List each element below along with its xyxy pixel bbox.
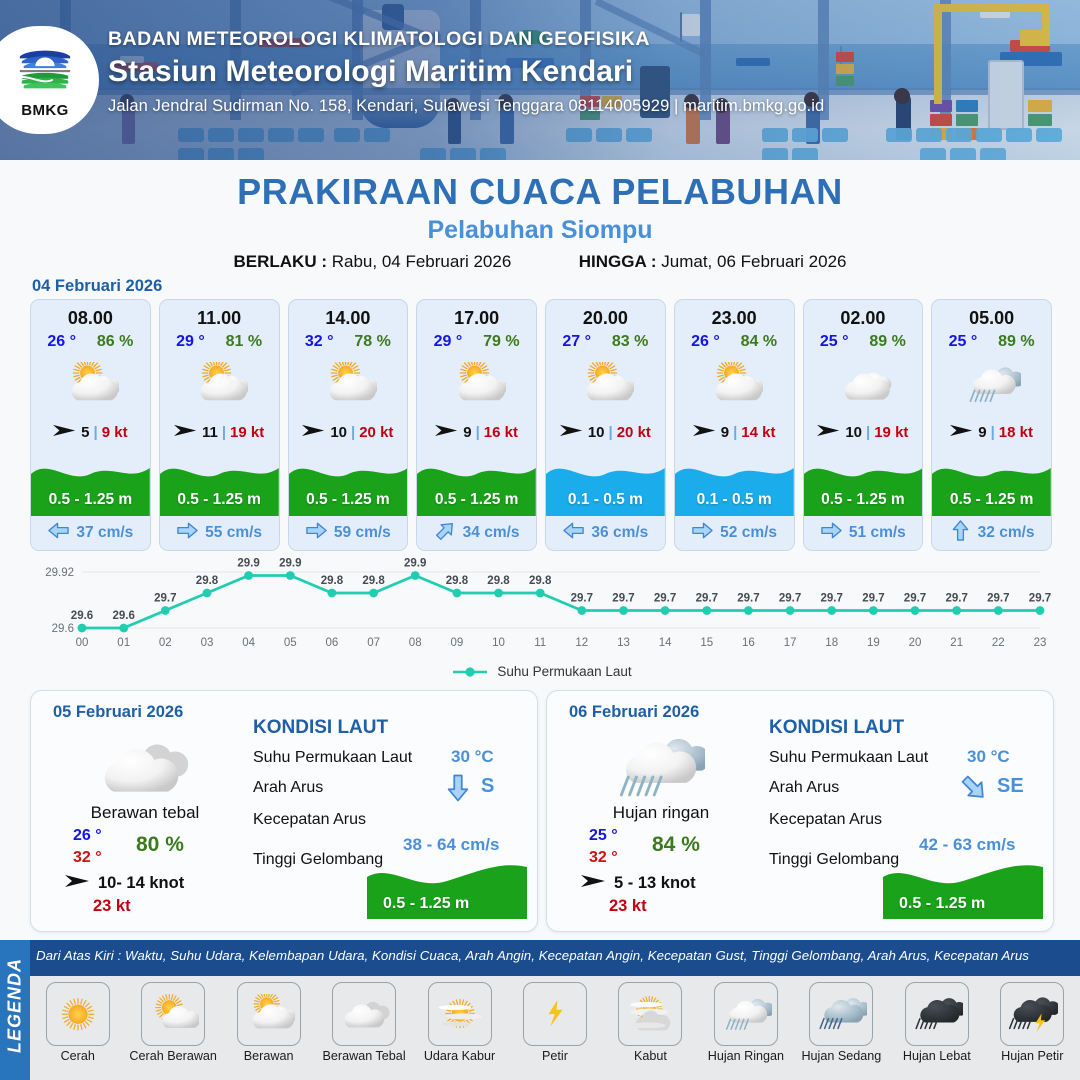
gust-speed: 9 kt xyxy=(102,424,128,441)
humidity: 79 % xyxy=(483,333,519,351)
daily-date: 05 Februari 2026 xyxy=(53,703,183,722)
wind-arrow-icon xyxy=(65,873,91,889)
daily-wind-speed: 10- 14 knot xyxy=(98,874,184,893)
svg-text:29.9: 29.9 xyxy=(279,558,301,570)
air-temperature: 32 ° xyxy=(305,333,334,351)
partly-cloudy-icon xyxy=(319,362,377,407)
arrow-left-icon xyxy=(47,519,70,547)
hingga-value: Jumat, 06 Februari 2026 xyxy=(661,252,846,271)
current-direction-value: SE xyxy=(997,775,1024,798)
svg-text:29.8: 29.8 xyxy=(529,575,552,587)
bmkg-logo-text: BMKG xyxy=(21,102,68,119)
legend-item: Petir xyxy=(507,982,602,1063)
daily-humidity: 84 % xyxy=(652,833,700,857)
svg-text:29.7: 29.7 xyxy=(1029,593,1051,605)
wind-arrow-icon xyxy=(693,423,717,438)
wind-arrow-icon xyxy=(65,873,91,894)
wave-height: 0.5 - 1.25 m xyxy=(804,454,923,516)
arrow-right-icon xyxy=(820,519,843,547)
forecast-card[interactable]: 20.00 27 ° 83 % 10 | 20 kt xyxy=(545,299,666,551)
arrow-right-icon xyxy=(305,519,328,547)
weather-condition-icon xyxy=(675,355,794,415)
light-rain-icon xyxy=(720,994,772,1035)
svg-text:29.8: 29.8 xyxy=(362,575,385,587)
wind-separator: | xyxy=(222,424,226,441)
wind-separator: | xyxy=(476,424,480,441)
daily-gust: 23 kt xyxy=(609,897,647,916)
wind-direction-arrow-icon xyxy=(174,423,198,442)
wind-info: 5 | 9 kt xyxy=(31,423,150,442)
bmkg-logo-mark xyxy=(14,41,76,101)
sunny-cloudy-icon xyxy=(141,982,205,1046)
arrow-up-icon xyxy=(949,519,972,542)
moderate-rain-icon xyxy=(815,994,867,1035)
station-name: Stasiun Meteorologi Maritim Kendari xyxy=(108,55,968,89)
wind-direction-arrow-icon xyxy=(817,423,841,442)
legend-item: Hujan Sedang xyxy=(794,982,889,1063)
light-rain-icon xyxy=(963,362,1021,407)
forecast-time: 20.00 xyxy=(546,308,665,329)
wind-direction-arrow-icon xyxy=(693,423,717,442)
wind-speed: 9 xyxy=(463,424,471,441)
legend-item: Hujan Ringan xyxy=(698,982,793,1063)
svg-text:29.8: 29.8 xyxy=(487,575,510,587)
air-temperature: 25 ° xyxy=(820,333,849,351)
air-temperature: 25 ° xyxy=(949,333,978,351)
svg-text:29.7: 29.7 xyxy=(696,593,718,605)
svg-text:16: 16 xyxy=(742,637,755,649)
arrow-down-icon xyxy=(443,773,473,808)
legend-tab-label: LEGENDA xyxy=(5,950,26,1062)
forecast-card-list: 08.00 26 ° 86 % 5 | 9 kt xyxy=(30,299,1052,549)
legend-item-label: Berawan xyxy=(244,1049,294,1063)
wind-arrow-icon xyxy=(53,423,77,438)
berlaku-label: BERLAKU : xyxy=(234,252,328,271)
legend-item-list: Cerah Cerah Berawan xyxy=(30,976,1080,1080)
header-text-block: BADAN METEOROLOGI KLIMATOLOGI DAN GEOFIS… xyxy=(108,28,968,116)
wind-direction-arrow-icon xyxy=(302,423,326,442)
legend-item-label: Hujan Petir xyxy=(1001,1049,1063,1063)
daily-temp-min: 26 ° xyxy=(73,827,102,845)
arrow-right-icon xyxy=(305,519,328,542)
wind-separator: | xyxy=(351,424,355,441)
thunderstorm-rain-icon xyxy=(1006,994,1058,1035)
svg-text:14: 14 xyxy=(659,637,672,649)
current-info: 55 cm/s xyxy=(160,516,279,550)
arrow-upright-icon xyxy=(434,519,457,547)
gust-speed: 18 kt xyxy=(999,424,1033,441)
wind-separator: | xyxy=(94,424,98,441)
arrow-right-icon xyxy=(691,519,714,542)
current-speed: 34 cm/s xyxy=(463,524,520,542)
sunny-icon xyxy=(46,982,110,1046)
light-rain-icon xyxy=(714,982,778,1046)
legend-item-label: Cerah xyxy=(61,1049,95,1063)
wind-direction-arrow-icon xyxy=(950,423,974,442)
daily-temp-max: 32 ° xyxy=(73,849,102,867)
current-speed: 55 cm/s xyxy=(205,524,262,542)
daily-date: 06 Februari 2026 xyxy=(569,703,699,722)
daily-gust: 23 kt xyxy=(93,897,131,916)
sea-conditions-heading: KONDISI LAUT xyxy=(769,717,904,739)
wind-arrow-icon xyxy=(950,423,974,438)
legend-note: Dari Atas Kiri : Waktu, Suhu Udara, Kele… xyxy=(36,948,1076,963)
sst-label: Suhu Permukaan Laut xyxy=(253,749,412,767)
partly-cloudy-icon xyxy=(190,362,248,407)
arrow-right-icon xyxy=(176,519,199,547)
forecast-time: 23.00 xyxy=(675,308,794,329)
humidity: 89 % xyxy=(869,333,905,351)
svg-text:29.7: 29.7 xyxy=(821,593,843,605)
forecast-card[interactable]: 11.00 29 ° 81 % 11 | 19 kt xyxy=(159,299,280,551)
forecast-card[interactable]: 05.00 25 ° 89 % 9 | 18 kt xyxy=(931,299,1052,551)
legend-item-label: Petir xyxy=(542,1049,568,1063)
svg-text:10: 10 xyxy=(492,637,505,649)
humidity: 86 % xyxy=(97,333,133,351)
arrow-right-icon xyxy=(820,519,843,542)
current-speed: 59 cm/s xyxy=(334,524,391,542)
svg-text:19: 19 xyxy=(867,637,880,649)
svg-text:20: 20 xyxy=(909,637,922,649)
svg-text:22: 22 xyxy=(992,637,1005,649)
current-direction-label: Arah Arus xyxy=(253,779,323,797)
forecast-time: 14.00 xyxy=(289,308,408,329)
forecast-time: 05.00 xyxy=(932,308,1051,329)
legend-item-label: Hujan Lebat xyxy=(903,1049,971,1063)
daily-humidity: 80 % xyxy=(136,833,184,857)
sst-chart-svg: 29.9229.629.60029.60129.70229.80329.9042… xyxy=(30,556,1052,660)
svg-text:17: 17 xyxy=(784,637,797,649)
wind-arrow-icon xyxy=(174,423,198,438)
wind-direction-arrow-icon xyxy=(560,423,584,442)
overcast-icon xyxy=(332,982,396,1046)
forecast-card[interactable]: 08.00 26 ° 86 % 5 | 9 kt xyxy=(30,299,151,551)
svg-text:21: 21 xyxy=(950,637,963,649)
sst-value: 30 °C xyxy=(967,747,1010,767)
cloudy-icon xyxy=(834,362,892,407)
wind-info: 9 | 18 kt xyxy=(932,423,1051,442)
gust-speed: 20 kt xyxy=(617,424,651,441)
gust-speed: 20 kt xyxy=(359,424,393,441)
svg-text:03: 03 xyxy=(201,637,214,649)
humidity: 78 % xyxy=(354,333,390,351)
wind-separator: | xyxy=(733,424,737,441)
legend-item: Cerah xyxy=(30,982,125,1063)
page-subtitle: Pelabuhan Siompu xyxy=(0,216,1080,245)
gust-speed: 19 kt xyxy=(874,424,908,441)
legend-item-label: Berawan Tebal xyxy=(323,1049,406,1063)
wave-height: 0.5 - 1.25 m xyxy=(160,454,279,516)
heavy-rain-icon xyxy=(911,994,963,1035)
wind-separator: | xyxy=(991,424,995,441)
wind-speed: 10 xyxy=(330,424,347,441)
arrow-upright-icon xyxy=(434,519,457,542)
light-rain-icon xyxy=(609,730,705,805)
humidity: 84 % xyxy=(741,333,777,351)
wave-height: 0.5 - 1.25 m xyxy=(31,454,150,516)
legend-item: Berawan Tebal xyxy=(316,982,411,1063)
wave-height-label: Tinggi Gelombang xyxy=(769,851,899,869)
svg-text:02: 02 xyxy=(159,637,172,649)
wave-height: 0.5 - 1.25 m xyxy=(417,454,536,516)
daily-weather-icon xyxy=(602,733,712,801)
chart-legend-marker-icon xyxy=(450,666,490,678)
wind-speed: 9 xyxy=(721,424,729,441)
gust-speed: 16 kt xyxy=(484,424,518,441)
daily-temp-min: 25 ° xyxy=(589,827,618,845)
heavy-rain-icon xyxy=(905,982,969,1046)
daily-wind: 10- 14 knot xyxy=(65,873,184,894)
wind-direction-arrow-icon xyxy=(53,423,77,442)
partly-cloudy-icon xyxy=(576,362,634,407)
svg-text:06: 06 xyxy=(326,637,339,649)
daily-forecast-panel-2: 06 Februari 2026 Hujan ringan 25 ° 32 ° … xyxy=(546,690,1054,932)
svg-text:01: 01 xyxy=(117,637,130,649)
arrow-left-icon xyxy=(47,519,70,542)
current-speed-value: 42 - 63 cm/s xyxy=(919,835,1015,855)
legend-item-label: Hujan Sedang xyxy=(801,1049,881,1063)
humidity: 89 % xyxy=(998,333,1034,351)
forecast-time: 11.00 xyxy=(160,308,279,329)
wind-arrow-icon xyxy=(817,423,841,438)
partly-cloudy-icon xyxy=(243,994,295,1035)
humidity: 83 % xyxy=(612,333,648,351)
daily-wave-value: 0.5 - 1.25 m xyxy=(899,895,985,913)
air-temperature: 27 ° xyxy=(562,333,591,351)
forecast-card[interactable]: 23.00 26 ° 84 % 9 | 14 kt xyxy=(674,299,795,551)
air-temperature: 26 ° xyxy=(691,333,720,351)
legend-item-label: Udara Kabur xyxy=(424,1049,495,1063)
weather-condition-icon xyxy=(804,355,923,415)
gust-speed: 14 kt xyxy=(741,424,775,441)
forecast-card[interactable]: 02.00 25 ° 89 % 10 | 19 kt xyxy=(803,299,924,551)
humidity: 81 % xyxy=(226,333,262,351)
svg-text:29.7: 29.7 xyxy=(946,593,968,605)
svg-text:12: 12 xyxy=(575,637,588,649)
wave-height: 0.1 - 0.5 m xyxy=(546,454,665,516)
legend-item-label: Hujan Ringan xyxy=(708,1049,784,1063)
wind-arrow-icon xyxy=(560,423,584,438)
svg-text:29.8: 29.8 xyxy=(321,575,344,587)
wind-info: 9 | 14 kt xyxy=(675,423,794,442)
wind-info: 9 | 16 kt xyxy=(417,423,536,442)
lightning-icon xyxy=(523,982,587,1046)
svg-text:29.7: 29.7 xyxy=(737,593,759,605)
svg-text:05: 05 xyxy=(284,637,297,649)
legend-item: Kabut xyxy=(603,982,698,1063)
forecast-time: 17.00 xyxy=(417,308,536,329)
wind-arrow-icon xyxy=(581,873,607,889)
svg-text:29.6: 29.6 xyxy=(71,610,93,622)
overcast-icon xyxy=(93,730,189,805)
legend-item: Udara Kabur xyxy=(412,982,507,1063)
svg-text:04: 04 xyxy=(242,637,255,649)
forecast-card[interactable]: 14.00 32 ° 78 % 10 | 20 kt xyxy=(288,299,409,551)
daily-condition: Hujan ringan xyxy=(561,803,761,823)
legend-item-label: Cerah Berawan xyxy=(129,1049,217,1063)
arrow-downright-icon xyxy=(959,773,989,803)
current-info: 51 cm/s xyxy=(804,516,923,550)
sea-conditions-heading: KONDISI LAUT xyxy=(253,717,388,739)
wind-info: 10 | 19 kt xyxy=(804,423,923,442)
overcast-icon xyxy=(338,994,390,1035)
svg-text:29.7: 29.7 xyxy=(862,593,884,605)
arrow-downright-icon xyxy=(959,773,989,808)
wind-arrow-icon xyxy=(435,423,459,438)
wind-arrow-icon xyxy=(302,423,326,438)
arrow-right-icon xyxy=(691,519,714,547)
current-info: 52 cm/s xyxy=(675,516,794,550)
forecast-time: 08.00 xyxy=(31,308,150,329)
svg-text:15: 15 xyxy=(700,637,713,649)
air-temperature: 29 ° xyxy=(434,333,463,351)
arrow-up-icon xyxy=(949,519,972,547)
weather-condition-icon xyxy=(417,355,536,415)
fog-icon xyxy=(618,982,682,1046)
svg-text:13: 13 xyxy=(617,637,630,649)
weather-condition-icon xyxy=(31,355,150,415)
wave-height: 0.5 - 1.25 m xyxy=(932,454,1051,516)
current-speed: 52 cm/s xyxy=(720,524,777,542)
svg-text:29.9: 29.9 xyxy=(404,558,426,570)
arrow-left-icon xyxy=(562,519,585,542)
current-speed: 51 cm/s xyxy=(849,524,906,542)
air-temperature: 29 ° xyxy=(176,333,205,351)
arrow-left-icon xyxy=(562,519,585,547)
wave-height-label: Tinggi Gelombang xyxy=(253,851,383,869)
current-direction-label: Arah Arus xyxy=(769,779,839,797)
current-info: 34 cm/s xyxy=(417,516,536,550)
wind-separator: | xyxy=(866,424,870,441)
arrow-down-icon xyxy=(443,773,473,803)
wind-info: 10 | 20 kt xyxy=(546,423,665,442)
forecast-time: 02.00 xyxy=(804,308,923,329)
partly-cloudy-icon xyxy=(705,362,763,407)
wind-arrow-icon xyxy=(581,873,607,894)
chart-legend: Suhu Permukaan Laut xyxy=(30,664,1052,679)
current-speed-value: 38 - 64 cm/s xyxy=(403,835,499,855)
wind-speed: 10 xyxy=(588,424,605,441)
wind-separator: | xyxy=(609,424,613,441)
current-info: 59 cm/s xyxy=(289,516,408,550)
daily-wave-value: 0.5 - 1.25 m xyxy=(383,895,469,913)
gust-speed: 19 kt xyxy=(230,424,264,441)
page-header: BMKG BADAN METEOROLOGI KLIMATOLOGI DAN G… xyxy=(0,0,1080,160)
svg-text:29.9: 29.9 xyxy=(237,558,259,570)
current-info: 36 cm/s xyxy=(546,516,665,550)
wind-info: 10 | 20 kt xyxy=(289,423,408,442)
wind-speed: 11 xyxy=(202,424,218,441)
wave-height: 0.1 - 0.5 m xyxy=(675,454,794,516)
wind-info: 11 | 19 kt xyxy=(160,423,279,442)
wind-speed: 10 xyxy=(845,424,862,441)
svg-text:29.7: 29.7 xyxy=(612,593,634,605)
svg-text:08: 08 xyxy=(409,637,422,649)
haze-icon xyxy=(428,982,492,1046)
daily-wind-speed: 5 - 13 knot xyxy=(614,874,696,893)
svg-text:09: 09 xyxy=(451,637,464,649)
svg-text:00: 00 xyxy=(76,637,89,649)
legend-item: Hujan Lebat xyxy=(889,982,984,1063)
current-direction-value: S xyxy=(481,775,494,798)
sunny-icon xyxy=(52,994,104,1035)
wind-direction-arrow-icon xyxy=(435,423,459,442)
agency-name: BADAN METEOROLOGI KLIMATOLOGI DAN GEOFIS… xyxy=(108,28,968,51)
air-temperature: 26 ° xyxy=(47,333,76,351)
legend-section: LEGENDA Dari Atas Kiri : Waktu, Suhu Uda… xyxy=(0,940,1080,1080)
svg-text:29.6: 29.6 xyxy=(52,623,74,635)
current-speed-label: Kecepatan Arus xyxy=(769,811,882,829)
sst-chart: 29.9229.629.60029.60129.70229.80329.9042… xyxy=(30,556,1052,684)
svg-text:29.6: 29.6 xyxy=(113,610,135,622)
sunny-cloudy-icon xyxy=(147,994,199,1035)
legend-item: Cerah Berawan xyxy=(125,982,220,1063)
daily-wind: 5 - 13 knot xyxy=(581,873,696,894)
svg-text:18: 18 xyxy=(825,637,838,649)
berlaku-value: Rabu, 04 Februari 2026 xyxy=(332,252,512,271)
daily-weather-icon xyxy=(86,733,196,801)
daily-temp-max: 32 ° xyxy=(589,849,618,867)
svg-text:29.7: 29.7 xyxy=(154,593,176,605)
partly-cloudy-icon xyxy=(237,982,301,1046)
weather-condition-icon xyxy=(289,355,408,415)
arrow-right-icon xyxy=(176,519,199,542)
svg-text:29.7: 29.7 xyxy=(779,593,801,605)
svg-text:29.92: 29.92 xyxy=(45,567,74,579)
wind-speed: 9 xyxy=(978,424,986,441)
legend-item: Berawan xyxy=(221,982,316,1063)
current-info: 32 cm/s xyxy=(932,516,1051,550)
svg-text:29.7: 29.7 xyxy=(654,593,676,605)
legend-tab: LEGENDA xyxy=(0,940,30,1080)
hingga-label: HINGGA : xyxy=(579,252,657,271)
sst-label: Suhu Permukaan Laut xyxy=(769,749,928,767)
haze-icon xyxy=(434,994,486,1035)
moderate-rain-icon xyxy=(809,982,873,1046)
thunderstorm-rain-icon xyxy=(1000,982,1064,1046)
wind-speed: 5 xyxy=(81,424,89,441)
svg-text:07: 07 xyxy=(367,637,380,649)
partly-cloudy-icon xyxy=(448,362,506,407)
daily-forecast-panel-1: 05 Februari 2026 Berawan tebal 26 ° 32 °… xyxy=(30,690,538,932)
sst-value: 30 °C xyxy=(451,747,494,767)
chart-legend-label: Suhu Permukaan Laut xyxy=(497,664,631,679)
current-speed: 36 cm/s xyxy=(591,524,648,542)
partly-cloudy-icon xyxy=(61,362,119,407)
svg-text:29.7: 29.7 xyxy=(904,593,926,605)
svg-text:11: 11 xyxy=(534,637,546,649)
legend-item: Hujan Petir xyxy=(985,982,1080,1063)
svg-text:29.8: 29.8 xyxy=(196,575,219,587)
station-address: Jalan Jendral Sudirman No. 158, Kendari,… xyxy=(108,97,968,116)
svg-text:29.7: 29.7 xyxy=(987,593,1009,605)
daily-condition: Berawan tebal xyxy=(45,803,245,823)
weather-condition-icon xyxy=(546,355,665,415)
current-info: 37 cm/s xyxy=(31,516,150,550)
fog-icon xyxy=(624,994,676,1035)
weather-condition-icon xyxy=(932,355,1051,415)
lightning-icon xyxy=(529,994,581,1035)
current-speed: 32 cm/s xyxy=(978,524,1035,542)
current-speed-label: Kecepatan Arus xyxy=(253,811,366,829)
wave-height: 0.5 - 1.25 m xyxy=(289,454,408,516)
weather-condition-icon xyxy=(160,355,279,415)
current-speed: 37 cm/s xyxy=(76,524,133,542)
forecast-card[interactable]: 17.00 29 ° 79 % 9 | 16 kt xyxy=(416,299,537,551)
svg-text:29.8: 29.8 xyxy=(446,575,469,587)
legend-item-label: Kabut xyxy=(634,1049,667,1063)
page-title: PRAKIRAAN CUACA PELABUHAN xyxy=(0,171,1080,213)
